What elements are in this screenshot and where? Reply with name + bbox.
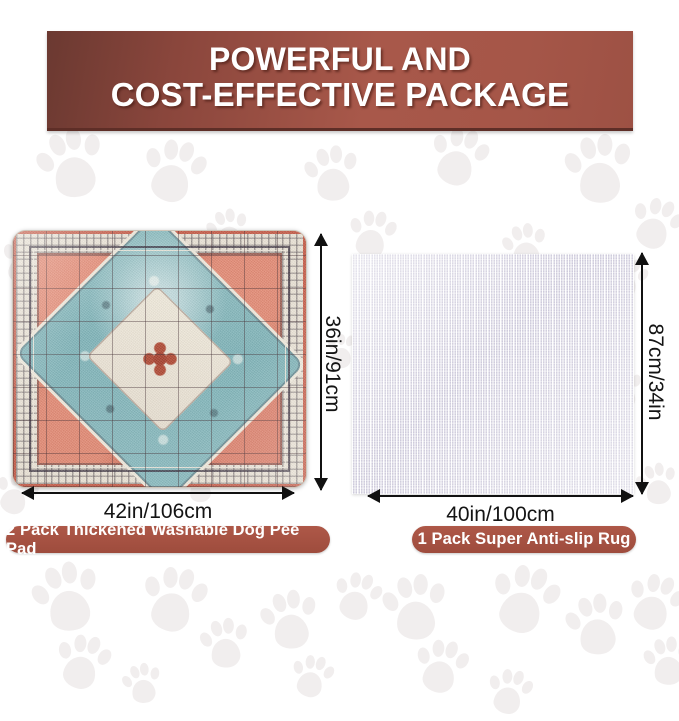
product-image-anti-slip-rug [352,254,634,494]
paw-print-icon [136,132,211,212]
height-label-anti-slip-rug: 87cm/34in [643,307,667,437]
height-label-pee-pad: 36in/91cm [320,299,344,429]
paw-print-icon [619,566,679,640]
paw-print-icon [286,650,337,704]
banner-title-line-2: COST-EFFECTIVE PACKAGE [111,77,570,114]
paw-print-icon [196,613,253,674]
paw-print-icon [560,129,638,212]
paw-print-icon [378,569,452,648]
width-arrow-anti-slip-rug [368,495,633,497]
rug-gloss-highlight [13,231,306,487]
banner-title-line-1: POWERFUL AND [111,42,570,78]
persian-rug-graphic [12,230,307,488]
paw-print-icon [28,119,116,210]
caption-text-dog-pee-pad: 2 Pack Thickened Washable Dog Pee Pad [6,521,330,559]
banner-title: POWERFUL AND COST-EFFECTIVE PACKAGE [111,42,570,118]
paw-print-icon [255,584,325,658]
caption-pill-anti-slip-rug: 1 Pack Super Anti-slip Rug [412,526,636,553]
width-label-anti-slip-rug: 40in/100cm [368,503,633,527]
paw-print-icon [300,141,364,209]
header-banner: POWERFUL AND COST-EFFECTIVE PACKAGE [47,31,633,131]
paw-print-icon [482,556,566,644]
paw-print-icon [327,566,386,628]
width-arrow-pee-pad [22,492,294,494]
paw-print-icon [483,664,536,721]
paw-print-icon [50,628,116,697]
paw-print-icon [423,120,494,195]
paw-print-icon [118,658,167,709]
paw-print-icon [560,588,632,664]
product-image-dog-pee-pad [12,230,307,488]
caption-pill-dog-pee-pad: 2 Pack Thickened Washable Dog Pee Pad [6,526,330,553]
paw-print-icon [640,633,679,692]
paw-print-icon [623,190,679,259]
caption-text-anti-slip-rug: 1 Pack Super Anti-slip Rug [418,530,631,549]
paw-print-icon [136,560,212,640]
mesh-rug-graphic [352,254,634,494]
paw-print-icon [410,634,472,700]
paw-print-icon [24,553,110,643]
